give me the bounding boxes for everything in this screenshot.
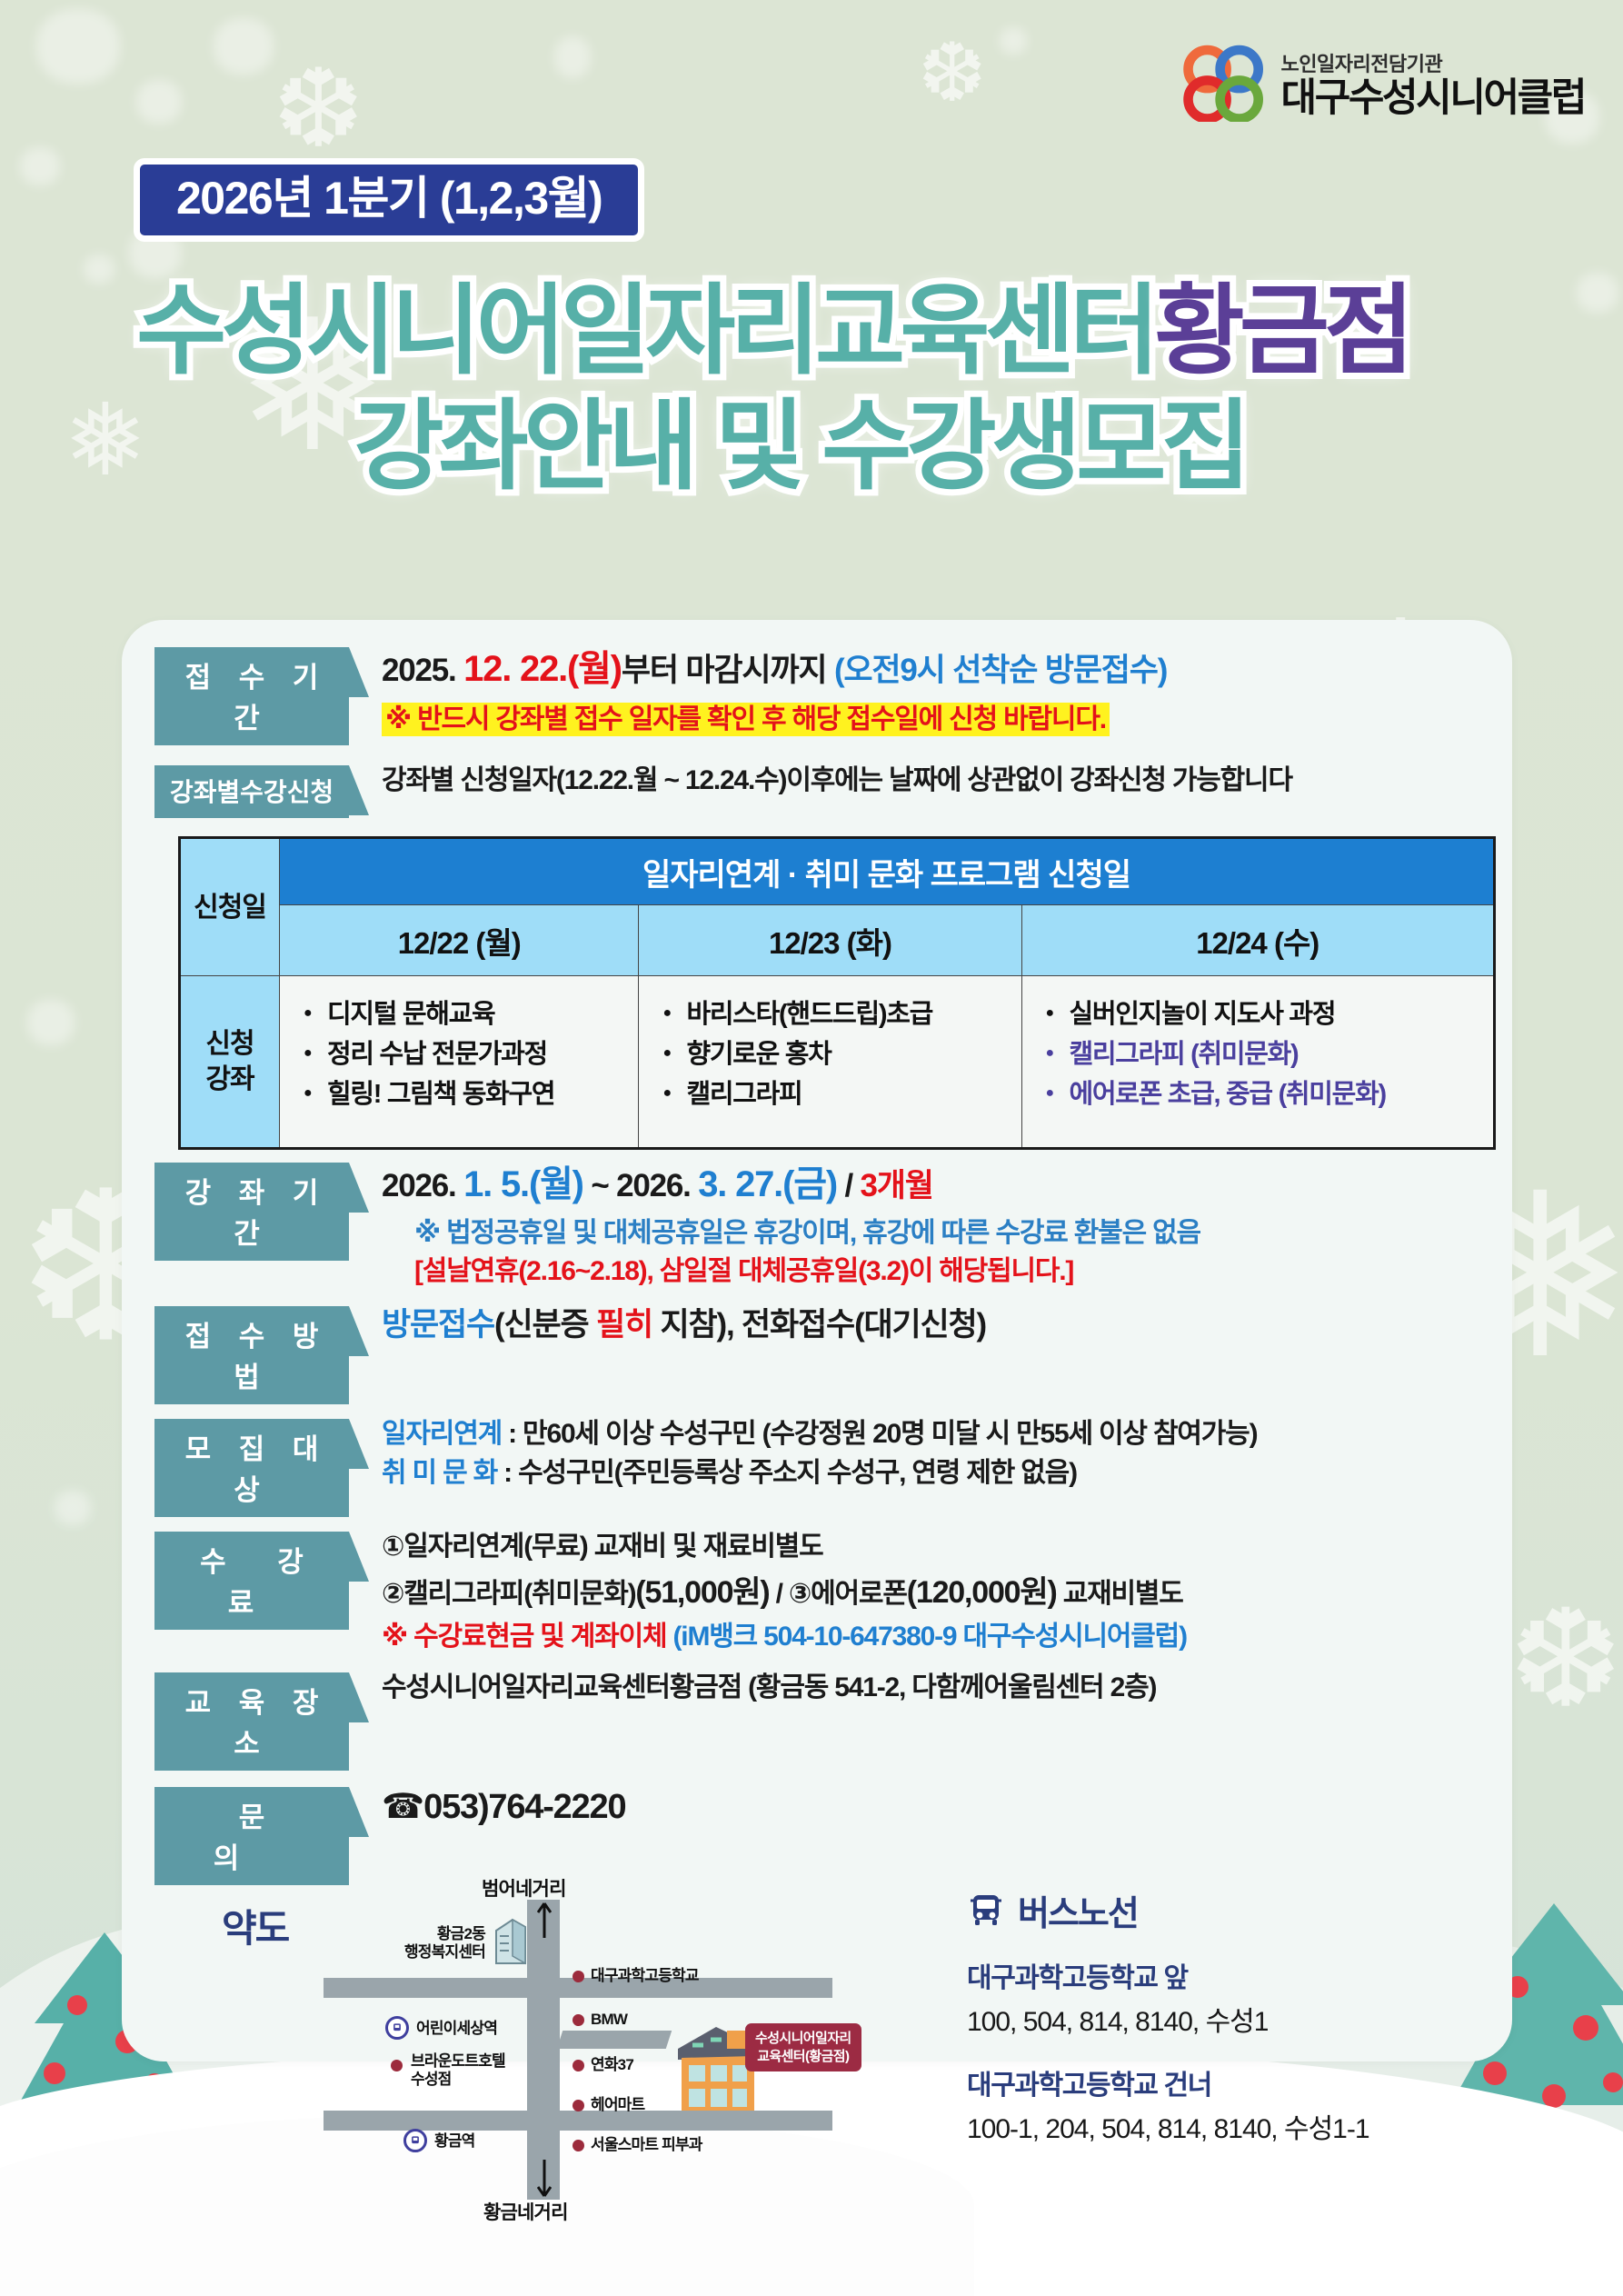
row-place: 교 육 장 소 수성시니어일자리교육센터황금점 (황금동 541-2, 다함께어… [154, 1669, 1490, 1771]
contact-line: ☎053)764-2220 [382, 1783, 1490, 1832]
label-target: 모 집 대 상 [154, 1419, 349, 1517]
course-apply-text: 강좌별 신청일자(12.22.월 ~ 12.24.수)이후에는 날짜에 상관없이… [382, 762, 1490, 801]
receipt-year: 2025. [382, 653, 463, 688]
target-line-2: 취 미 문 화 : 수성구민(주민등록상 주소지 수성구, 연령 제한 없음) [382, 1454, 1490, 1493]
place-text: 수성시니어일자리교육센터황금점 (황금동 541-2, 다함께어울림센터 2층) [382, 1669, 1490, 1708]
bokeh-dot [20, 147, 60, 185]
snowflake-icon: ❅ [64, 391, 147, 491]
period-end-date: 3. 27.(금) [698, 1164, 837, 1204]
bus-stop-routes: 100, 504, 814, 8140, 수성1 [967, 1999, 1494, 2039]
table-col-header: 12/22 (월) [280, 905, 639, 976]
table-row-label: 신청강좌 [180, 976, 280, 1149]
id-required-post: 지참), [652, 1307, 742, 1343]
course-item: 디지털 문해교육 [304, 994, 629, 1034]
course-item: 실버인지놀이 지도사 과정 [1046, 994, 1485, 1034]
arrow-up-icon [537, 1902, 552, 1938]
fee-calligraphy-label: ②캘리그라피(취미문화) [382, 1579, 635, 1609]
map-place-label: 대구과학고등학교 [591, 1967, 699, 1985]
subway-icon [385, 2016, 409, 2040]
bus-routes-heading: 버스노선 [967, 1885, 1494, 1935]
info-card: 접 수 기 간 2025. 12. 22.(월)부터 마감시까지 (오전9시 선… [122, 620, 1512, 2061]
row-contact: 문 의 ☎053)764-2220 [154, 1783, 1490, 1885]
bus-routes-title: 버스노선 [1018, 1885, 1138, 1935]
row-course-apply: 강좌별수강신청 강좌별 신청일자(12.22.월 ~ 12.24.수)이후에는 … [154, 762, 1490, 818]
phone-apply: 전화접수 [742, 1307, 854, 1343]
course-item: 정리 수납 전문가과정 [304, 1034, 629, 1074]
bokeh-dot [55, 1491, 91, 1525]
subway-icon [403, 2129, 427, 2152]
bottom-section: 약도 범어네거리 황금네거리 황금2동행정복지센터 어린이세상역 브라운도트호텔… [122, 1872, 1512, 2236]
bokeh-dot [27, 1000, 75, 1045]
bokeh-dot [84, 255, 115, 284]
bokeh-dot [554, 36, 591, 78]
label-place: 교 육 장 소 [154, 1672, 349, 1771]
snowflake-icon: ❆ [918, 33, 986, 115]
period-start-date: 1. 5.(월) [463, 1164, 583, 1204]
bokeh-dot [214, 18, 274, 75]
title-line-2: 강좌안내 및 수강생모집 [136, 388, 1518, 504]
arrow-down-icon [537, 2160, 552, 2198]
fee-calligraphy-amount: (51,000원) [635, 1575, 769, 1610]
label-course-period: 강 좌 기 간 [154, 1163, 349, 1261]
map-place-label: 브라운도트호텔수성점 [411, 2052, 505, 2090]
target-line-1: 일자리연계 : 만60세 이상 수성구민 (수강정원 20명 미달 시 만55세… [382, 1415, 1490, 1454]
bokeh-dot [136, 80, 182, 124]
table-cell-day1: 디지털 문해교육 정리 수납 전문가과정 힐링! 그림책 동화구연 [280, 976, 639, 1149]
poster-title: 수성시니어일자리교육센터황금점 강좌안내 및 수강생모집 [136, 273, 1518, 504]
table-row: 신청강좌 디지털 문해교육 정리 수납 전문가과정 힐링! 그림책 동화구연 바… [180, 976, 1495, 1149]
map-place-label: 어린이세상역 [416, 2020, 497, 2038]
row-receipt-method: 접 수 방 법 방문접수(신분증 필히 지참), 전화접수(대기신청) [154, 1303, 1490, 1404]
label-contact: 문 의 [154, 1787, 349, 1885]
bokeh-dot [1577, 273, 1618, 313]
fee-aerophone-label: / ③에어로폰 [770, 1579, 907, 1609]
target-text-job: : 만60세 이상 수성구민 (수강정원 20명 미달 시 만55세 이상 참여… [502, 1419, 1257, 1449]
road-diagonal [557, 2031, 672, 2049]
visit-apply: 방문접수 [382, 1307, 494, 1343]
row-course-period: 강 좌 기 간 2026. 1. 5.(월) ~ 2026. 3. 27.(금)… [154, 1159, 1490, 1292]
course-period-note-1: ※ 법정공휴일 및 대체공휴일은 휴강이며, 휴강에 따른 수강료 환불은 없음 [382, 1214, 1490, 1253]
fee-bank-account: (iM뱅크 504-10-647380-9 대구수성시니어클럽) [673, 1622, 1187, 1652]
row-fee: 수 강 료 ①일자리연계(무료) 교재비 및 재료비별도 ②캘리그라피(취미문화… [154, 1528, 1490, 1656]
logo-title: 대구수성시니어클럽 [1281, 79, 1585, 118]
title-line-1: 수성시니어일자리교육센터황금점 [136, 273, 1518, 388]
fee-line-1: ①일자리연계(무료) 교재비 및 재료비별도 [382, 1528, 1490, 1567]
receipt-warning: ※ 반드시 강좌별 접수 일자를 확인 후 해당 접수일에 신청 바랍니다. [382, 701, 1490, 740]
receipt-date: 12. 22.(월) [463, 649, 622, 689]
target-label-job: 일자리연계 [382, 1419, 502, 1449]
course-item: 힐링! 그림책 동화구연 [304, 1074, 629, 1114]
table-cell-day3: 실버인지놀이 지도사 과정 캘리그라피 (취미문화) 에어로폰 초급, 중급 (… [1021, 976, 1495, 1149]
phone-apply-note: (대기신청) [854, 1307, 986, 1343]
course-item: 바리스타(핸드드립)초급 [662, 994, 1011, 1034]
title-part-center: 수성시니어일자리교육센터 [136, 275, 1154, 385]
receipt-warning-text: ※ 반드시 강좌별 접수 일자를 확인 후 해당 접수일에 신청 바랍니다. [382, 703, 1110, 736]
course-item: 에어로폰 초급, 중급 (취미문화) [1046, 1074, 1485, 1114]
target-text-hobby: : 수성구민(주민등록상 주소지 수성구, 연령 제한 없음) [497, 1458, 1077, 1488]
organization-logo: 노인일자리전담기관 대구수성시니어클럽 [1180, 44, 1585, 122]
destination-tag: 수성시니어일자리교육센터(황금점) [745, 2023, 861, 2071]
table-banner: 일자리연계 · 취미 문화 프로그램 신청일 [280, 838, 1495, 905]
map-place-label: 연화37 [591, 2056, 633, 2074]
period-sep: ~ 2026. [583, 1168, 698, 1203]
fee-aerophone-amount: (120,000원) [907, 1575, 1057, 1610]
row-receipt-period: 접 수 기 간 2025. 12. 22.(월)부터 마감시까지 (오전9시 선… [154, 644, 1490, 745]
bus-stop-name: 대구과학고등학교 건너 [967, 2062, 1494, 2102]
map-pin-dot [573, 2140, 584, 2151]
three-circles-logo-icon [1180, 44, 1269, 122]
map-label-north: 범어네거리 [482, 1878, 566, 1901]
period-slash: / [837, 1168, 861, 1203]
id-required-emph: 필히 [596, 1307, 652, 1343]
course-period-text: 2026. 1. 5.(월) ~ 2026. 3. 27.(금) / 3개월 [382, 1159, 1490, 1211]
map-place-label: 황금역 [434, 2132, 475, 2151]
title-part-branch: 황금점 [1154, 275, 1409, 385]
logo-subtitle: 노인일자리전담기관 [1281, 48, 1585, 77]
fee-line-2: ②캘리그라피(취미문화)(51,000원) / ③에어로폰(120,000원) … [382, 1571, 1490, 1614]
fee-payment-method: ※ 수강료현금 및 계좌이체 [382, 1622, 673, 1652]
course-item: 캘리그라피 (취미문화) [1046, 1034, 1485, 1074]
label-receipt-period: 접 수 기 간 [154, 647, 349, 745]
row-target: 모 집 대 상 일자리연계 : 만60세 이상 수성구민 (수강정원 20명 미… [154, 1415, 1490, 1517]
contact-phone: 053)764-2220 [423, 1788, 625, 1826]
period-start-year: 2026. [382, 1168, 463, 1203]
map-place-label: BMW [591, 2011, 627, 2029]
label-receipt-method: 접 수 방 법 [154, 1306, 349, 1404]
map-place-label: 서울스마트 피부과 [591, 2136, 702, 2154]
label-course-apply: 강좌별수강신청 [154, 765, 349, 818]
table-col-header: 12/23 (화) [639, 905, 1021, 976]
location-map: 범어네거리 황금네거리 황금2동행정복지센터 어린이세상역 브라운도트호텔수성점… [304, 1882, 867, 2227]
telephone-icon: ☎ [382, 1788, 423, 1826]
map-place-label: 황금2동행정복지센터 [367, 1925, 485, 1962]
period-duration: 3개월 [861, 1168, 933, 1203]
table-corner-label: 신청일 [180, 838, 280, 976]
table-cell-day2: 바리스타(핸드드립)초급 향기로운 홍차 캘리그라피 [639, 976, 1021, 1149]
receipt-method-text: 방문접수(신분증 필히 지참), 전화접수(대기신청) [382, 1303, 1490, 1348]
course-item: 캘리그라피 [662, 1074, 1011, 1114]
map-title: 약도 [222, 1898, 288, 1953]
id-required-pre: (신분증 [494, 1307, 596, 1343]
snowflake-icon: ❆ [1508, 1591, 1623, 1727]
map-pin-dot [391, 2060, 403, 2071]
receipt-until: 부터 마감시까지 [622, 653, 834, 688]
map-pin-dot [573, 2060, 584, 2071]
fee-material-note: 교재비별도 [1057, 1579, 1183, 1609]
receipt-period-text: 2025. 12. 22.(월)부터 마감시까지 (오전9시 선착순 방문접수) [382, 644, 1490, 695]
receipt-note-inline: (오전9시 선착순 방문접수) [834, 653, 1167, 688]
table-col-header: 12/24 (수) [1021, 905, 1495, 976]
map-pin-dot [573, 2100, 584, 2111]
map-pin-dot [573, 1971, 584, 1982]
bokeh-dot [36, 9, 120, 84]
fee-line-3: ※ 수강료현금 및 계좌이체 (iM뱅크 504-10-647380-9 대구수… [382, 1618, 1490, 1657]
course-item: 향기로운 홍차 [662, 1034, 1011, 1074]
target-label-hobby: 취 미 문 화 [382, 1458, 497, 1488]
schedule-table: 신청일 일자리연계 · 취미 문화 프로그램 신청일 12/22 (월) 12/… [178, 836, 1496, 1150]
map-label-south: 황금네거리 [483, 2201, 568, 2224]
bus-stop-name: 대구과학고등학교 앞 [967, 1955, 1494, 1995]
snowflake-icon: ❆ [273, 55, 364, 164]
map-place-label: 헤어마트 [591, 2096, 644, 2114]
building-icon [491, 1914, 531, 1969]
course-period-note-2: [설날연휴(2.16~2.18), 삼일절 대체공휴일(3.2)이 해당됩니다.… [382, 1253, 1490, 1292]
bus-icon [967, 1892, 1005, 1930]
bokeh-dot [1000, 27, 1027, 55]
bus-stop-routes: 100-1, 204, 504, 814, 8140, 수성1-1 [967, 2106, 1494, 2146]
label-fee: 수 강 료 [154, 1532, 349, 1630]
bus-routes-section: 버스노선 대구과학고등학교 앞 100, 504, 814, 8140, 수성1… [967, 1885, 1494, 2170]
road-vertical [527, 1900, 560, 2200]
quarter-badge: 2026년 1분기 (1,2,3월) [134, 158, 644, 242]
map-pin-dot [573, 2014, 584, 2026]
